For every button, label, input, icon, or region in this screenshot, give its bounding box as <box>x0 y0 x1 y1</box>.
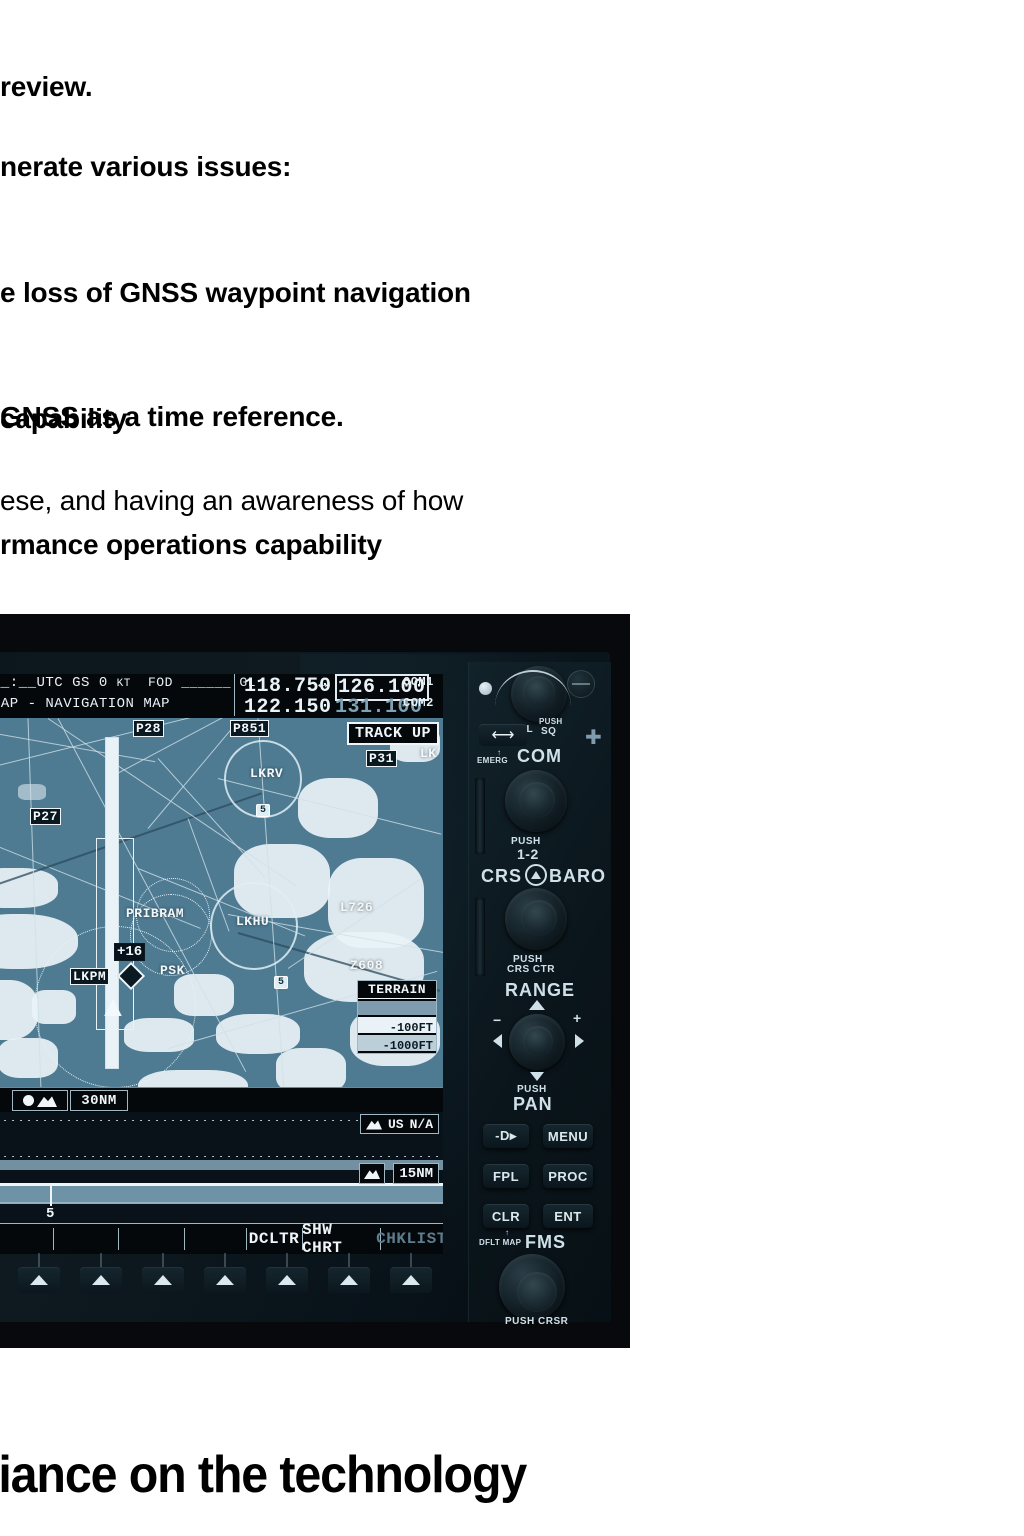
pfd-mfd-screen: __:__UTC GS 0 KT FOD ______ GL 118.750 ↔… <box>0 674 443 1254</box>
vertical-profile-view[interactable]: 5 US N/A 15NM <box>0 1112 443 1224</box>
map-label: P28 <box>133 720 164 737</box>
gs-label: GS <box>72 675 90 691</box>
pan-label: PAN <box>513 1094 553 1115</box>
softkey-label-chklist[interactable]: CHKLIST <box>380 1227 443 1251</box>
profile-terrain-toggle[interactable] <box>359 1163 385 1184</box>
menu-button[interactable]: MENU <box>543 1124 593 1148</box>
com-transfer-button[interactable]: ⟷ <box>479 724 527 746</box>
profile-cursor-value: 5 <box>46 1206 54 1222</box>
map-label: LK <box>420 746 437 761</box>
range-title: RANGE <box>505 980 575 1001</box>
terrain-mountain-icon <box>37 1094 57 1107</box>
dflt-map-arrow-icon: ↑ <box>505 1228 509 1237</box>
softkey-button-3[interactable] <box>142 1267 184 1293</box>
map-label: PSK <box>160 963 185 978</box>
softkey-stem <box>348 1253 350 1267</box>
softkey-button-7[interactable] <box>390 1267 432 1293</box>
pan-left-arrow-icon <box>493 1034 502 1048</box>
terrain-mountain-icon <box>364 1168 380 1179</box>
bezel-slider-rail <box>475 778 485 854</box>
fms-section-label: FMS <box>525 1232 566 1253</box>
terrain-value-low: -1000FT <box>383 1039 433 1053</box>
range-minus-label: − <box>493 1012 502 1028</box>
map-label: L726 <box>340 900 373 915</box>
softkey-stem <box>286 1253 288 1267</box>
fpl-button[interactable]: FPL <box>483 1164 529 1188</box>
softkey-button-2[interactable] <box>80 1267 122 1293</box>
softkey-stem <box>38 1253 40 1267</box>
map-range-value[interactable]: 30NM <box>70 1090 128 1111</box>
indicator-led-icon <box>479 682 492 695</box>
com-section-label: COM <box>517 746 562 767</box>
fod-label: FOD <box>148 675 173 690</box>
softkey-stem <box>224 1253 226 1267</box>
utc-value: __:__UTC <box>0 675 63 691</box>
map-label: P31 <box>366 750 397 767</box>
fod-field: FOD ______ GL <box>148 675 256 690</box>
softkey-label-shw-chrt[interactable]: SHW CHRT <box>302 1227 380 1251</box>
push-crsr-label: PUSH CRSR <box>505 1316 568 1327</box>
altitude-tag: +16 <box>114 943 145 961</box>
com2-standby-frequency[interactable]: 122.150 <box>244 696 332 719</box>
map-label: LKPM <box>70 968 109 985</box>
pan-right-arrow-icon <box>575 1034 584 1048</box>
profile-us-value: N/A <box>410 1117 433 1132</box>
up-triangle-icon <box>92 1275 110 1285</box>
ownship-aircraft-icon: ▲ <box>96 990 130 1024</box>
page-title: MAP - NAVIGATION MAP <box>0 696 170 712</box>
up-triangle-icon <box>278 1275 296 1285</box>
terrain-mountain-icon <box>366 1119 382 1130</box>
softkey-button-4[interactable] <box>204 1267 246 1293</box>
profile-terrain-lower <box>0 1186 443 1202</box>
softkey-button-5[interactable] <box>266 1267 308 1293</box>
fms-cross-icon: ✚ <box>585 728 605 748</box>
sq-label: SQ <box>541 726 556 737</box>
gs-unit: KT <box>117 678 131 690</box>
profile-database-status: US N/A <box>360 1114 439 1134</box>
map-label: LKRV <box>250 766 283 781</box>
map-label: P27 <box>30 808 61 825</box>
range-pan-knob[interactable] <box>509 1014 565 1070</box>
map-footer-bar: 30NM <box>0 1087 443 1112</box>
bezel-slider-rail <box>475 898 485 976</box>
circle-symbol-icon <box>23 1095 34 1106</box>
frequency-transfer-arrow-icon: ↔ <box>318 675 328 693</box>
emerg-label: EMERG <box>477 756 508 765</box>
map-symbol-cell[interactable] <box>12 1090 68 1111</box>
map-label: Z608 <box>350 958 383 973</box>
up-triangle-icon <box>154 1275 172 1285</box>
softkey-button-1[interactable] <box>18 1267 60 1293</box>
road-shield: 5 <box>256 804 270 817</box>
text-line: ese, and having an awareness of how <box>0 480 760 522</box>
map-label: LKHU <box>236 914 269 929</box>
profile-us-label: US <box>388 1117 404 1132</box>
softkey-stem <box>162 1253 164 1267</box>
crs-ctr-label: CRS CTR <box>507 964 555 975</box>
topbar-row-1: __:__UTC GS 0 KT FOD ______ GL 118.750 ↔… <box>0 675 443 696</box>
track-up-indicator[interactable]: TRACK UP <box>347 722 439 745</box>
transfer-arrow-icon: ⟷ <box>492 725 515 745</box>
up-triangle-icon <box>216 1275 234 1285</box>
road-shield: 5 <box>274 976 288 989</box>
terrain-legend: TERRAIN -100FT -1000FT <box>357 980 437 1054</box>
text-line: e loss of GNSS waypoint navigation <box>0 272 760 314</box>
topbar-row-2: MAP - NAVIGATION MAP 122.150 131.100 COM… <box>0 696 443 717</box>
softkey-stem <box>100 1253 102 1267</box>
top-data-bar: __:__UTC GS 0 KT FOD ______ GL 118.750 ↔… <box>0 674 443 718</box>
com-frequency-knob[interactable] <box>505 770 567 832</box>
range-plus-label: + <box>573 1010 582 1026</box>
up-triangle-icon <box>30 1275 48 1285</box>
profile-cursor <box>50 1184 52 1206</box>
profile-range-value[interactable]: 15NM <box>393 1163 439 1184</box>
map-label: P851 <box>230 720 269 737</box>
clr-button[interactable]: CLR <box>483 1204 529 1228</box>
up-triangle-icon <box>402 1275 420 1285</box>
fod-value: ______ <box>181 675 231 690</box>
fms-knob[interactable] <box>499 1254 565 1320</box>
crs-baro-knob[interactable] <box>505 888 567 950</box>
ent-button[interactable]: ENT <box>543 1204 593 1228</box>
range-up-arrow-icon <box>529 1000 545 1010</box>
squelch-screw-icon[interactable] <box>567 670 595 698</box>
com2-label: COM2 <box>403 696 434 710</box>
proc-button[interactable]: PROC <box>543 1164 593 1188</box>
map-label: PRIBRAM <box>126 906 184 921</box>
baro-triangle-icon <box>525 864 547 886</box>
dflt-map-label: DFLT MAP <box>479 1238 521 1247</box>
softkey-button-6[interactable] <box>328 1267 370 1293</box>
com1-label: COM1 <box>403 675 434 689</box>
pan-down-arrow-icon <box>530 1072 544 1081</box>
direct-to-button[interactable]: -D▸ <box>483 1124 529 1148</box>
section-headline: liance on the technology <box>0 1444 823 1506</box>
gs-value: 0 <box>99 675 108 691</box>
navigation-map[interactable]: TRACK UP P28P27P851LKRVP31LKPRIBRAMLKHUL… <box>0 718 443 1112</box>
up-triangle-icon <box>340 1275 358 1285</box>
softkey-label-row: DCLTR SHW CHRT CHKLIST <box>0 1223 443 1254</box>
text-line: nerate various issues: <box>0 146 760 188</box>
terrain-legend-title: TERRAIN <box>358 981 436 999</box>
avionics-photo: __:__UTC GS 0 KT FOD ______ GL 118.750 ↔… <box>0 614 630 1348</box>
terrain-value-high: -100FT <box>390 1021 433 1035</box>
baro-label: BARO <box>549 866 606 887</box>
softkey-label-dcltr[interactable]: DCLTR <box>246 1227 302 1251</box>
utc-gs-field: __:__UTC GS 0 KT <box>0 675 131 691</box>
push-12-label: 1-2 <box>517 846 539 862</box>
push-label-sq: PUSH <box>539 717 562 726</box>
crs-label: CRS <box>481 866 522 887</box>
control-bezel: VOL PUSH SQ ⟷ ↑ EMERG COM PUSH 1-2 CRS B… <box>468 662 611 1322</box>
softkey-stem <box>410 1253 412 1267</box>
